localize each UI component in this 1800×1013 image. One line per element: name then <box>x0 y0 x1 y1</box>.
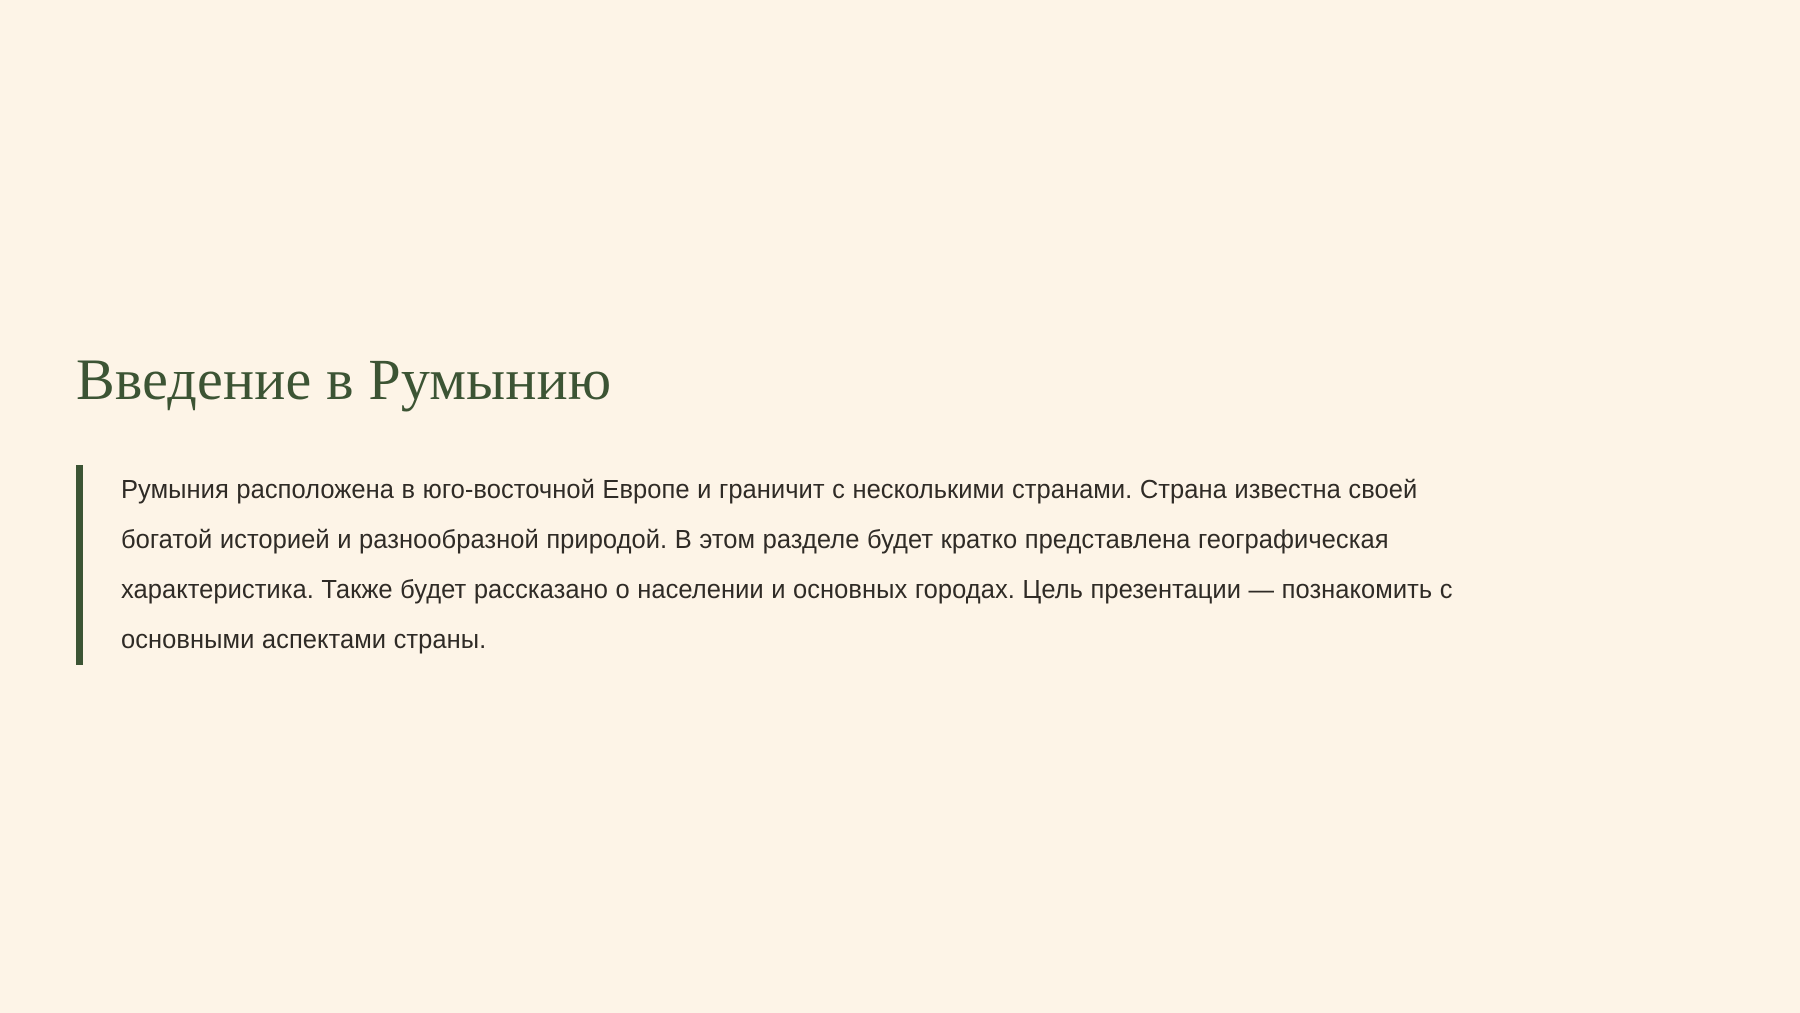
accent-bar <box>76 465 83 665</box>
presentation-slide: Введение в Румынию Румыния расположена в… <box>0 0 1800 1013</box>
slide-body-text: Румыния расположена в юго-восточной Евро… <box>83 465 1496 665</box>
body-quote-block: Румыния расположена в юго-восточной Евро… <box>76 465 1496 665</box>
slide-title: Введение в Румынию <box>76 348 1496 413</box>
